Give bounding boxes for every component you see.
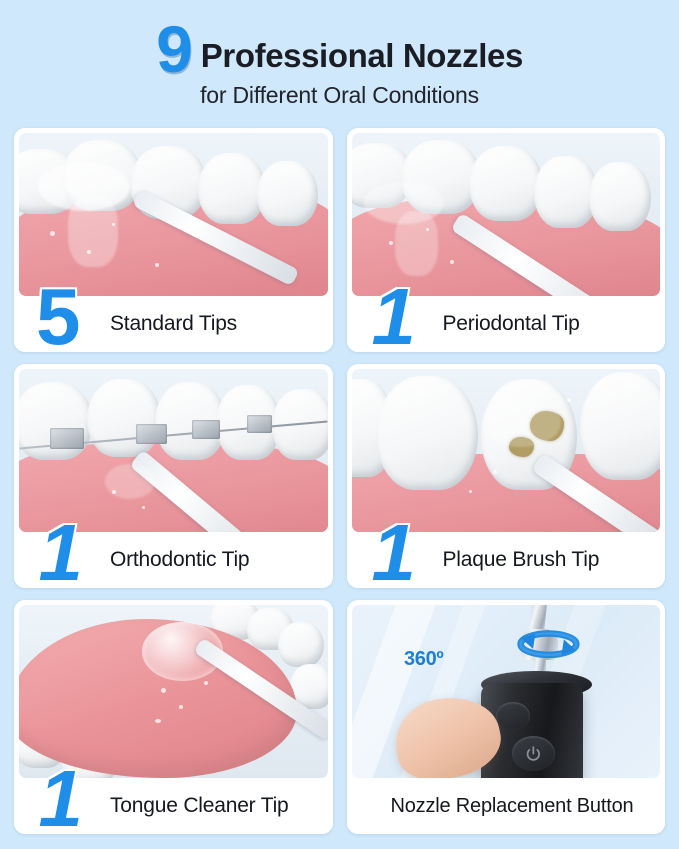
nozzle-card-standard-tips[interactable]: 5 Standard Tips (14, 128, 333, 352)
nozzle-card-plaque-brush-tip[interactable]: 1 Plaque Brush Tip (347, 364, 666, 588)
page-header: 9 Professional Nozzles for Different Ora… (0, 0, 679, 115)
tongue-cleaner-tip-illustration (19, 605, 328, 778)
periodontal-tip-footer: 1 Periodontal Tip (347, 296, 666, 352)
orthodontic-tip-footer: 1 Orthodontic Tip (14, 532, 333, 588)
periodontal-tip-label: Periodontal Tip (443, 312, 580, 336)
nozzle-replacement-label: Nozzle Replacement Button (391, 795, 634, 818)
tongue-cleaner-tip-footer: 1 Tongue Cleaner Tip (14, 778, 333, 834)
infographic-page: 9 Professional Nozzles for Different Ora… (0, 0, 679, 849)
nozzle-card-tongue-cleaner-tip[interactable]: 1 Tongue Cleaner Tip (14, 600, 333, 834)
nozzle-replacement-footer: Nozzle Replacement Button (347, 778, 666, 834)
orthodontic-tip-label: Orthodontic Tip (110, 548, 249, 572)
plaque-brush-tip-label: Plaque Brush Tip (443, 548, 600, 572)
page-subtitle: for Different Oral Conditions (0, 82, 679, 109)
tongue-cleaner-tip-label: Tongue Cleaner Tip (110, 794, 289, 818)
nozzle-replacement-illustration: 360º (352, 605, 661, 778)
page-title: Professional Nozzles (201, 39, 523, 72)
nozzle-card-periodontal-tip[interactable]: 1 Periodontal Tip (347, 128, 666, 352)
standard-tips-count: 5 (36, 286, 81, 348)
plaque-brush-tip-footer: 1 Plaque Brush Tip (347, 532, 666, 588)
title-row: 9 Professional Nozzles (0, 18, 679, 75)
standard-tips-label: Standard Tips (110, 312, 237, 336)
rotation-degree-label: 360º (404, 648, 443, 671)
standard-tips-footer: 5 Standard Tips (14, 296, 333, 352)
nozzle-card-replacement-button[interactable]: 360º (347, 600, 666, 834)
power-icon (521, 745, 546, 762)
nozzle-card-orthodontic-tip[interactable]: 1 Orthodontic Tip (14, 364, 333, 588)
nozzle-count-number: 9 (156, 21, 191, 78)
nozzle-card-grid: 5 Standard Tips (14, 128, 665, 834)
rotation-arrow-icon (496, 624, 601, 666)
